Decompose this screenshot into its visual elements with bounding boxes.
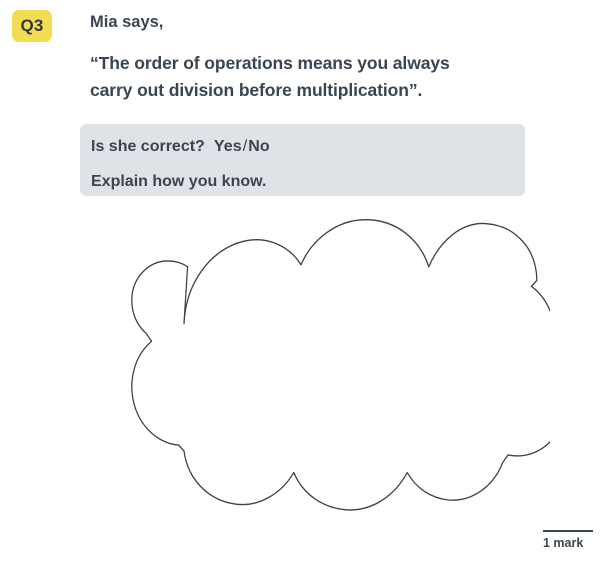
- yes-no-choice[interactable]: Yes/No: [214, 138, 270, 155]
- question-number-label: Q3: [20, 16, 43, 36]
- speaker-line: Mia says,: [90, 11, 540, 33]
- correctness-prompt-row: Is she correct?Yes/No: [91, 135, 525, 158]
- marks-allocation: 1 mark: [543, 530, 595, 551]
- marks-label: 1 mark: [543, 536, 595, 551]
- explain-instruction: Explain how you know.: [91, 170, 525, 193]
- quote-line-2: carry out division before multiplication…: [90, 77, 540, 104]
- answer-cloud-area[interactable]: [60, 198, 550, 528]
- marks-rule: [543, 530, 593, 532]
- instruction-panel: Is she correct?Yes/No Explain how you kn…: [80, 124, 525, 196]
- quote-line-1: “The order of operations means you alway…: [90, 50, 540, 77]
- option-yes[interactable]: Yes: [214, 138, 242, 155]
- correctness-prompt-label: Is she correct?: [91, 138, 205, 155]
- option-separator: /: [243, 138, 248, 155]
- question-stem: Mia says, “The order of operations means…: [90, 11, 540, 104]
- option-no[interactable]: No: [248, 138, 270, 155]
- question-number-badge: Q3: [12, 10, 52, 42]
- cloud-outline-icon: [60, 198, 550, 528]
